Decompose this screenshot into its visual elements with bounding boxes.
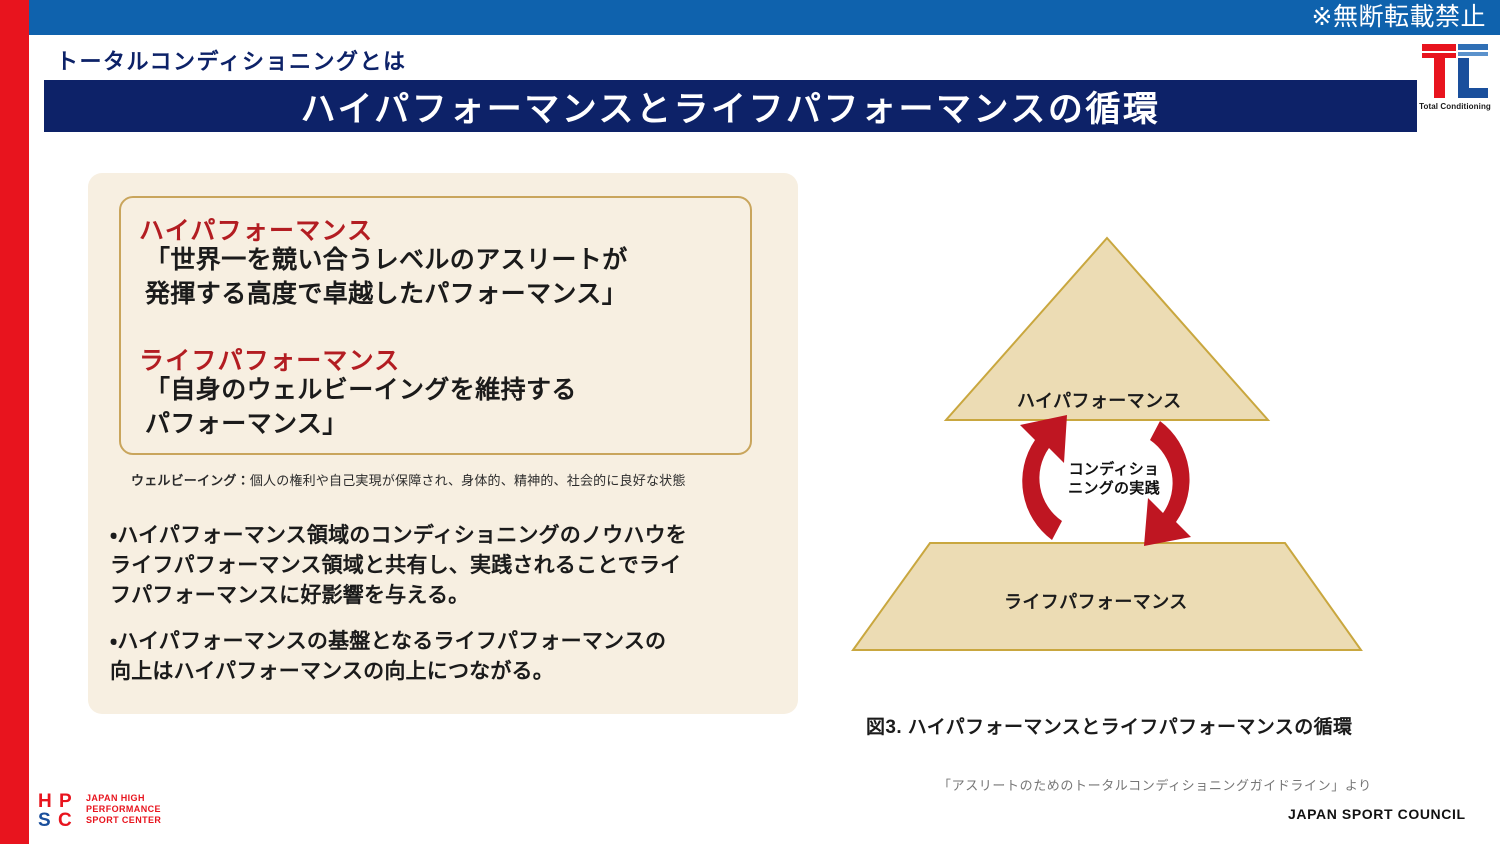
figure-caption: 図3. ハイパフォーマンスとライフパフォーマンスの循環 — [866, 712, 1352, 739]
hpsc-logo-mark: H P S C — [38, 792, 73, 830]
label-conditioning-practice: コンディショ ニングの実践 — [1050, 460, 1178, 498]
left-red-rail — [0, 0, 29, 844]
total-conditioning-logo — [1422, 44, 1488, 106]
organization-name: JAPAN SPORT COUNCIL — [1288, 806, 1466, 822]
hpsc-mark-line1: H P — [38, 792, 73, 811]
section-kicker: トータルコンディショニングとは — [56, 44, 407, 76]
trapezoid-life-performance — [853, 543, 1361, 650]
bullet-item-1: ・ハイパフォーマンス領域のコンディショニングのノウハウを ライフパフォーマンス領… — [110, 521, 770, 611]
wellbeing-footnote: ウェルビーイング：個人の権利や自己実現が保障され、身体的、精神的、社会的に良好な… — [131, 470, 686, 489]
slide-canvas: ※無断転載禁止 トータルコンディショニングとは ハイパフォーマンスとライフパフォ… — [0, 0, 1500, 844]
wellbeing-footnote-text: 個人の権利や自己実現が保障され、身体的、精神的、社会的に良好な状態 — [250, 473, 686, 488]
wellbeing-footnote-term: ウェルビーイング： — [131, 473, 250, 488]
tc-logo-icon — [1422, 44, 1488, 106]
tc-logo-caption: Total Conditioning — [1413, 102, 1497, 111]
hpsc-logo-words: JAPAN HIGH PERFORMANCE SPORT CENTER — [86, 793, 161, 826]
definition-life-performance: 「自身のウェルビーイングを維持する パフォーマンス」 — [145, 373, 577, 441]
term-life-performance: ライフパフォーマンス — [139, 341, 401, 377]
definition-high-performance: 「世界一を競い合うレベルのアスリートが 発揮する高度で卓越したパフォーマンス」 — [145, 243, 628, 311]
triangle-high-performance — [946, 238, 1268, 420]
page-title: ハイパフォーマンスとライフパフォーマンスの循環 — [301, 81, 1161, 132]
hpsc-logo: H P S C JAPAN HIGH PERFORMANCE SPORT CEN… — [38, 792, 218, 834]
top-banner — [0, 0, 1500, 35]
bullet-item-2: ・ハイパフォーマンスの基盤となるライフパフォーマンスの 向上はハイパフォーマンス… — [110, 627, 770, 687]
hpsc-mark-line2: S C — [38, 811, 73, 830]
title-bar: ハイパフォーマンスとライフパフォーマンスの循環 — [44, 80, 1417, 132]
cycle-diagram-svg — [830, 225, 1390, 670]
cycle-diagram — [830, 225, 1390, 670]
source-citation: 「アスリートのためのトータルコンディショニングガイドライン」より — [938, 775, 1372, 794]
no-reprint-notice: ※無断転載禁止 — [1312, 1, 1486, 34]
term-high-performance: ハイパフォーマンス — [139, 211, 373, 247]
